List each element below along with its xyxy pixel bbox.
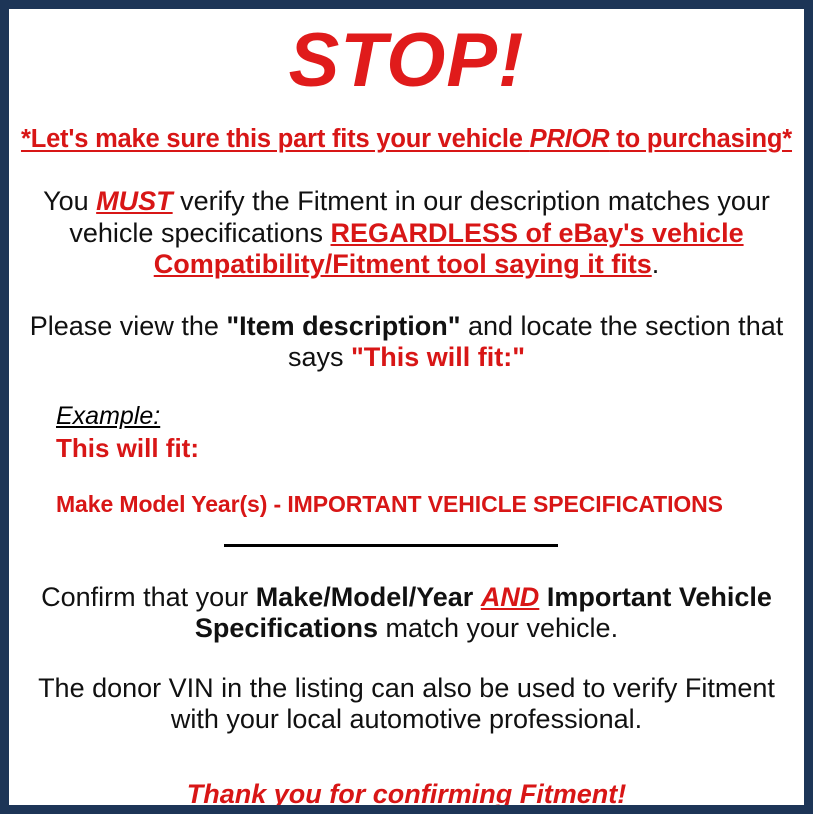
verify-emphasis-must: MUST xyxy=(96,186,173,216)
example-will-fit-heading: This will fit: xyxy=(56,431,804,464)
view-text-part1: Please view the xyxy=(30,311,227,341)
example-label: Example: xyxy=(56,402,804,432)
view-emphasis-this-will-fit: "This will fit:" xyxy=(351,342,525,372)
section-divider xyxy=(224,544,558,547)
divider-wrapper xyxy=(9,518,804,548)
banner-suffix: to purchasing* xyxy=(609,125,792,153)
paragraph-view-description: Please view the "Item description" and l… xyxy=(17,281,797,374)
confirm-emphasis-and: AND xyxy=(481,582,540,612)
paragraph-donor-vin: The donor VIN in the listing can also be… xyxy=(22,645,792,736)
paragraph-verify-fitment: You MUST verify the Fitment in our descr… xyxy=(22,154,792,281)
closing-thank-you: Thank you for confirming Fitment! xyxy=(9,763,804,810)
verify-text-part3: . xyxy=(652,249,660,279)
banner-warning-line: *Let's make sure this part fits your veh… xyxy=(9,99,804,154)
verify-text-part1: You xyxy=(43,186,96,216)
page-title: STOP! xyxy=(9,9,804,99)
fitment-notice-card: STOP! *Let's make sure this part fits yo… xyxy=(0,0,813,814)
banner-emphasis-prior: PRIOR xyxy=(530,125,610,153)
paragraph-confirm-match: Confirm that your Make/Model/Year AND Im… xyxy=(22,548,792,645)
example-block: Example: This will fit: Make Model Year(… xyxy=(9,374,804,518)
confirm-text-part2: match your vehicle. xyxy=(378,613,618,643)
confirm-text-part1: Confirm that your xyxy=(41,582,256,612)
example-spec-line: Make Model Year(s) - IMPORTANT VEHICLE S… xyxy=(56,465,804,518)
view-emphasis-item-description: "Item description" xyxy=(226,311,460,341)
confirm-emphasis-make-model-year: Make/Model/Year xyxy=(256,582,474,612)
notice-body: STOP! *Let's make sure this part fits yo… xyxy=(9,9,804,805)
banner-prefix: *Let's make sure this part fits your veh… xyxy=(21,125,530,153)
